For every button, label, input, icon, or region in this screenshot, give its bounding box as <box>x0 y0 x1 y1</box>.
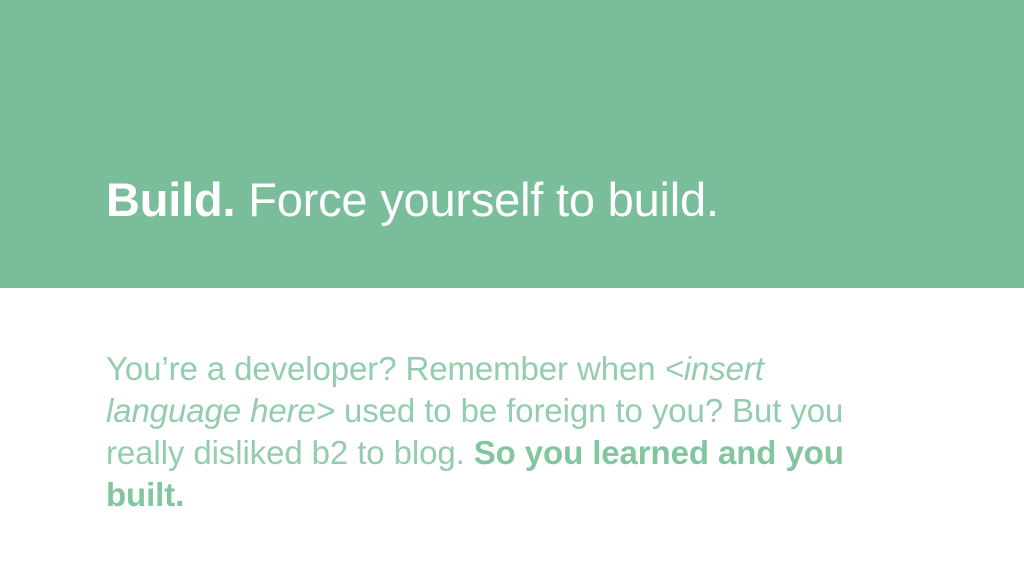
body-area: You’re a developer? Remember when <inser… <box>0 288 1024 576</box>
headline-rest: Force yourself to build. <box>235 173 719 226</box>
slide: Build. Force yourself to build. You’re a… <box>0 0 1024 576</box>
header-band: Build. Force yourself to build. <box>0 0 1024 288</box>
page-title: Build. Force yourself to build. <box>106 172 719 228</box>
headline-lead: Build. <box>106 173 235 226</box>
body-segment-intro: You’re a developer? Remember when <box>106 350 665 387</box>
body-paragraph: You’re a developer? Remember when <inser… <box>106 348 906 516</box>
